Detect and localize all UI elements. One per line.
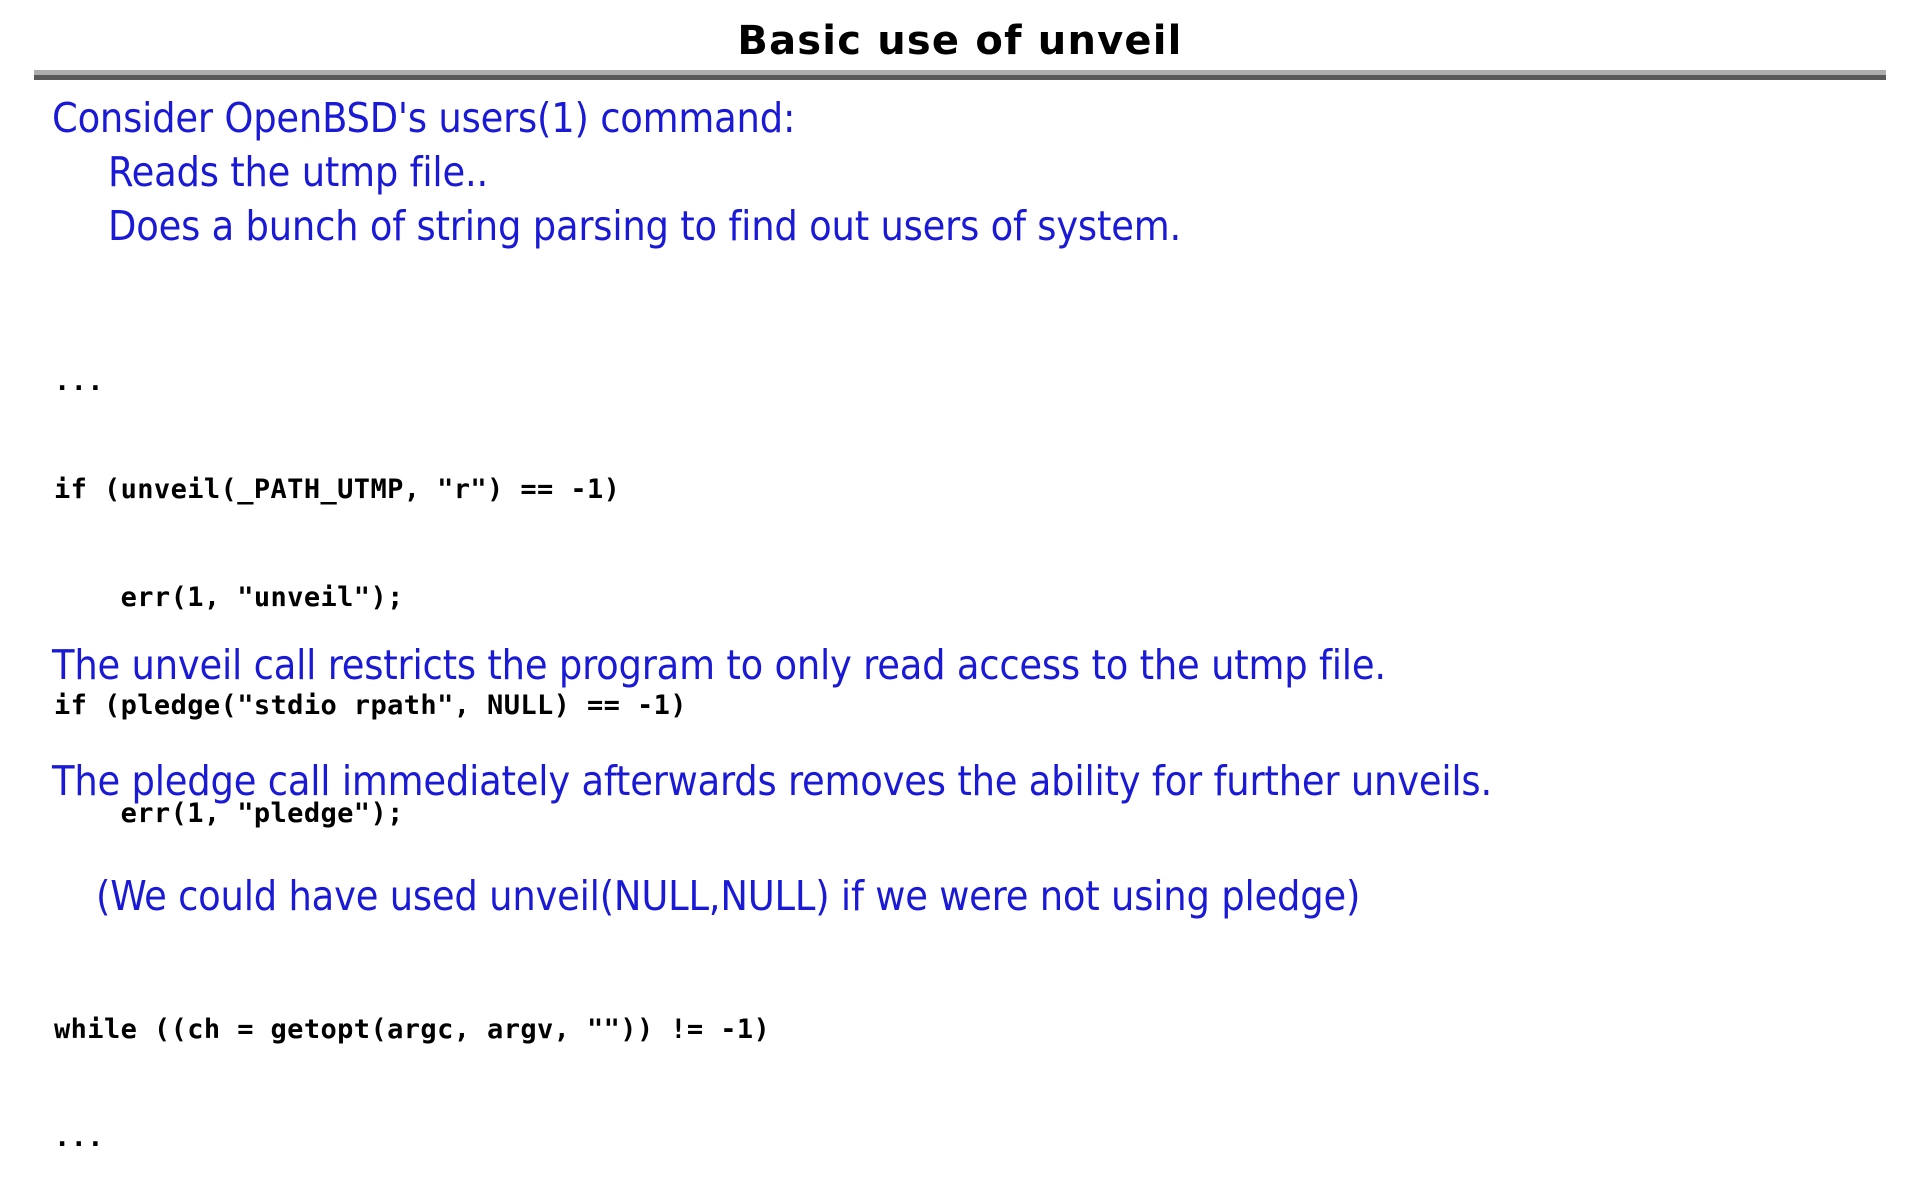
code-snippet: ... if (unveil(_PATH_UTMP, "r") == -1) e… (54, 292, 770, 1192)
code-line: if (pledge("stdio rpath", NULL) == -1) (54, 688, 770, 724)
bullet-string-parsing: Does a bunch of string parsing to find o… (108, 202, 1181, 250)
code-line: err(1, "unveil"); (54, 580, 770, 616)
page-title: Basic use of unveil (0, 18, 1920, 64)
note-unveil-restriction: The unveil call restricts the program to… (52, 641, 1386, 689)
code-line: ... (54, 1120, 770, 1156)
note-pledge-removes-unveil: The pledge call immediately afterwards r… (52, 757, 1492, 805)
note-parenthetical-null: (We could have used unveil(NULL,NULL) if… (96, 872, 1360, 920)
code-line: if (unveil(_PATH_UTMP, "r") == -1) (54, 472, 770, 508)
divider-shadow (34, 75, 1886, 80)
intro-text: Consider OpenBSD's users(1) command: (52, 94, 795, 142)
code-line: while ((ch = getopt(argc, argv, "")) != … (54, 1012, 770, 1048)
bullet-reads-utmp: Reads the utmp file.. (108, 148, 488, 196)
code-line: ... (54, 364, 770, 400)
title-divider (34, 70, 1886, 80)
